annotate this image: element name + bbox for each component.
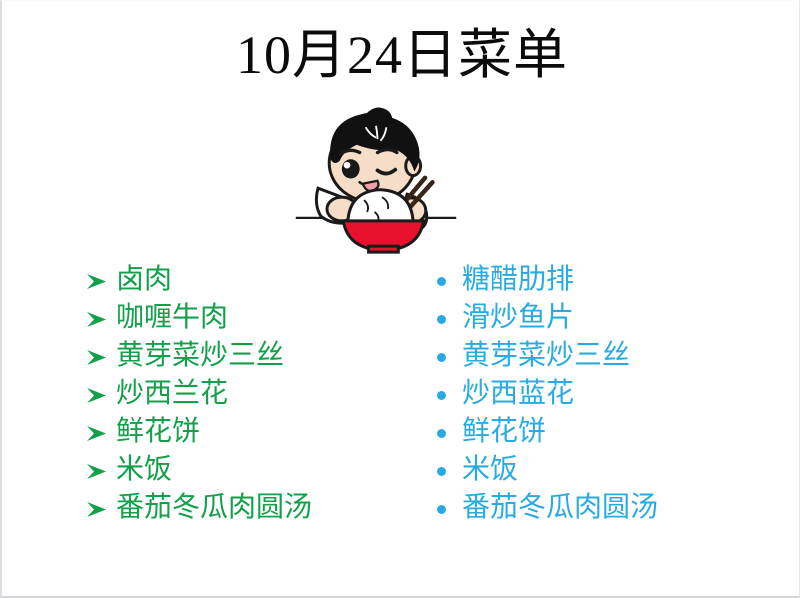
menu-item-label: 咖喱牛肉 xyxy=(116,301,416,335)
menu-item-label: 卤肉 xyxy=(116,263,416,297)
eye-open xyxy=(342,159,360,178)
dot-bullet-icon xyxy=(432,339,462,373)
page-title: 10月24日菜单 xyxy=(2,25,800,85)
list-item[interactable]: 番茄冬瓜肉圆汤 xyxy=(86,491,416,529)
menu-list-right: 糖醋肋排 滑炒鱼片 黄芽菜炒三丝 炒西蓝花 鲜花饼 米饭 xyxy=(426,263,766,529)
list-item[interactable]: 黄芽菜炒三丝 xyxy=(426,339,766,377)
arrow-bullet-icon xyxy=(86,491,116,525)
dot-bullet-icon xyxy=(432,415,462,449)
dot-bullet-icon xyxy=(432,453,462,487)
list-item[interactable]: 米饭 xyxy=(426,453,766,491)
menu-item-label: 鲜花饼 xyxy=(462,415,766,449)
list-item[interactable]: 米饭 xyxy=(86,453,416,491)
dot-bullet-icon xyxy=(432,301,462,335)
list-item[interactable]: 糖醋肋排 xyxy=(426,263,766,301)
arrow-bullet-icon xyxy=(86,415,116,449)
menu-item-label: 米饭 xyxy=(116,453,416,487)
menu-item-label: 番茄冬瓜肉圆汤 xyxy=(462,491,766,525)
menu-item-label: 番茄冬瓜肉圆汤 xyxy=(116,491,416,525)
menu-column-left: 卤肉 咖喱牛肉 黄芽菜炒三丝 炒西兰花 xyxy=(86,263,416,529)
boy-eating-rice-bowl-illustration xyxy=(294,105,458,261)
list-item[interactable]: 鲜花饼 xyxy=(86,415,416,453)
arrow-bullet-icon xyxy=(86,301,116,335)
list-item[interactable]: 番茄冬瓜肉圆汤 xyxy=(426,491,766,529)
menu-item-label: 炒西兰花 xyxy=(116,377,416,411)
menu-item-label: 糖醋肋排 xyxy=(462,263,766,297)
dot-bullet-icon xyxy=(432,491,462,525)
list-item[interactable]: 卤肉 xyxy=(86,263,416,301)
list-item[interactable]: 炒西兰花 xyxy=(86,377,416,415)
arrow-bullet-icon xyxy=(86,377,116,411)
list-item[interactable]: 鲜花饼 xyxy=(426,415,766,453)
arrow-bullet-icon xyxy=(86,453,116,487)
menu-item-label: 米饭 xyxy=(462,453,766,487)
list-item[interactable]: 咖喱牛肉 xyxy=(86,301,416,339)
menu-slide: 10月24日菜单 xyxy=(0,0,800,598)
arrow-bullet-icon xyxy=(86,339,116,373)
arrow-bullet-icon xyxy=(86,263,116,297)
list-item[interactable]: 黄芽菜炒三丝 xyxy=(86,339,416,377)
dot-bullet-icon xyxy=(432,263,462,297)
menu-column-right: 糖醋肋排 滑炒鱼片 黄芽菜炒三丝 炒西蓝花 鲜花饼 米饭 xyxy=(426,263,766,529)
list-item[interactable]: 炒西蓝花 xyxy=(426,377,766,415)
dot-bullet-icon xyxy=(432,377,462,411)
menu-item-label: 炒西蓝花 xyxy=(462,377,766,411)
menu-item-label: 黄芽菜炒三丝 xyxy=(116,339,416,373)
menu-item-label: 黄芽菜炒三丝 xyxy=(462,339,766,373)
menu-item-label: 鲜花饼 xyxy=(116,415,416,449)
menu-list-left: 卤肉 咖喱牛肉 黄芽菜炒三丝 炒西兰花 xyxy=(86,263,416,529)
menu-item-label: 滑炒鱼片 xyxy=(462,301,766,335)
list-item[interactable]: 滑炒鱼片 xyxy=(426,301,766,339)
